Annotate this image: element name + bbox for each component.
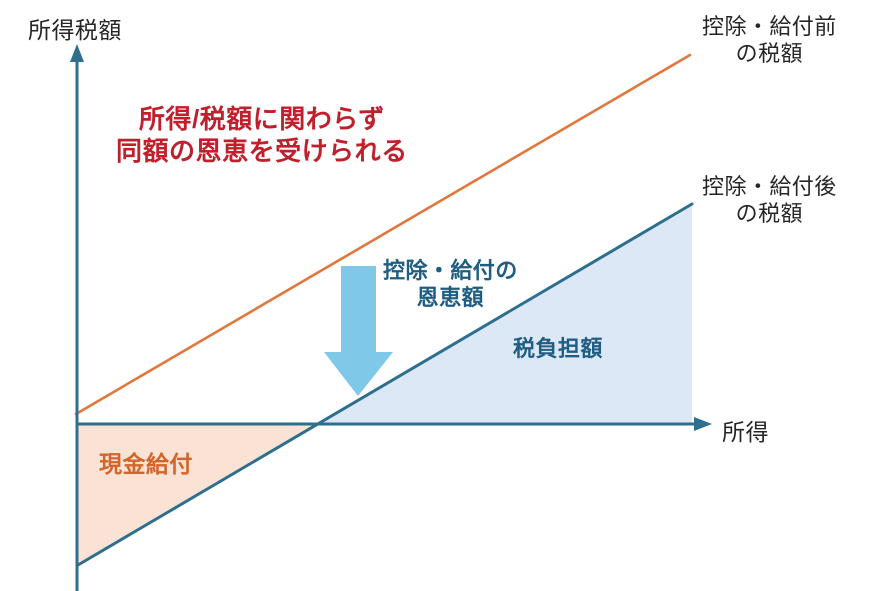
equal-benefit-note: 所得/税額に関わらず 同額の恩恵を受けられる (116, 104, 408, 167)
y-axis-label: 所得税額 (28, 16, 122, 44)
pre-deduction-tax-label: 控除・給付前 の税額 (702, 14, 837, 68)
cash-grant-label: 現金給付 (99, 450, 193, 478)
post-deduction-tax-label: 控除・給付後 の税額 (702, 174, 837, 228)
diagram-canvas: 所得税額 所得 控除・給付前 の税額 控除・給付後 の税額 所得/税額に関わらず… (0, 0, 870, 591)
benefit-amount-note: 控除・給付の 恩恵額 (383, 258, 518, 312)
tax-burden-label: 税負担額 (513, 336, 603, 363)
x-axis-label: 所得 (722, 418, 769, 446)
